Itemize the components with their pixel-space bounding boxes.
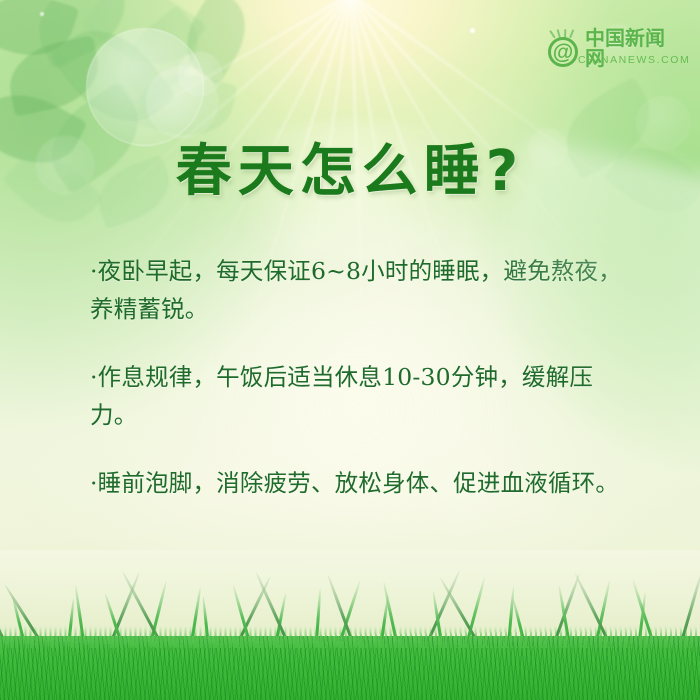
poster-canvas: @ 中国新闻网 CHINANEWS.COM 春天怎么睡? ·夜卧早起，每天保证6…	[0, 0, 700, 700]
turf-base	[0, 636, 700, 700]
tip-item: ·睡前泡脚，消除疲劳、放松身体、促进血液循环。	[90, 464, 630, 502]
grass-illustration	[0, 550, 700, 700]
tips-list: ·夜卧早起，每天保证6~8小时的睡眠，避免熬夜，养精蓄锐。 ·作息规律，午饭后适…	[90, 252, 630, 502]
spark-ray-icon	[569, 29, 574, 38]
chinanews-watermark: @ 中国新闻网 CHINANEWS.COM	[548, 26, 680, 70]
sparkle-dot	[470, 28, 475, 33]
watermark-brand-en: CHINANEWS.COM	[578, 54, 690, 66]
spark-ray-icon	[549, 30, 556, 39]
sparkle-dot	[40, 12, 44, 16]
bokeh-circle	[178, 52, 222, 96]
tip-item: ·作息规律，午饭后适当休息10-30分钟，缓解压力。	[90, 358, 630, 434]
tip-item: ·夜卧早起，每天保证6~8小时的睡眠，避免熬夜，养精蓄锐。	[90, 252, 630, 328]
at-sign-icon: @	[548, 37, 578, 67]
page-title: 春天怎么睡?	[0, 140, 700, 204]
at-logo-mark: @	[548, 29, 580, 67]
